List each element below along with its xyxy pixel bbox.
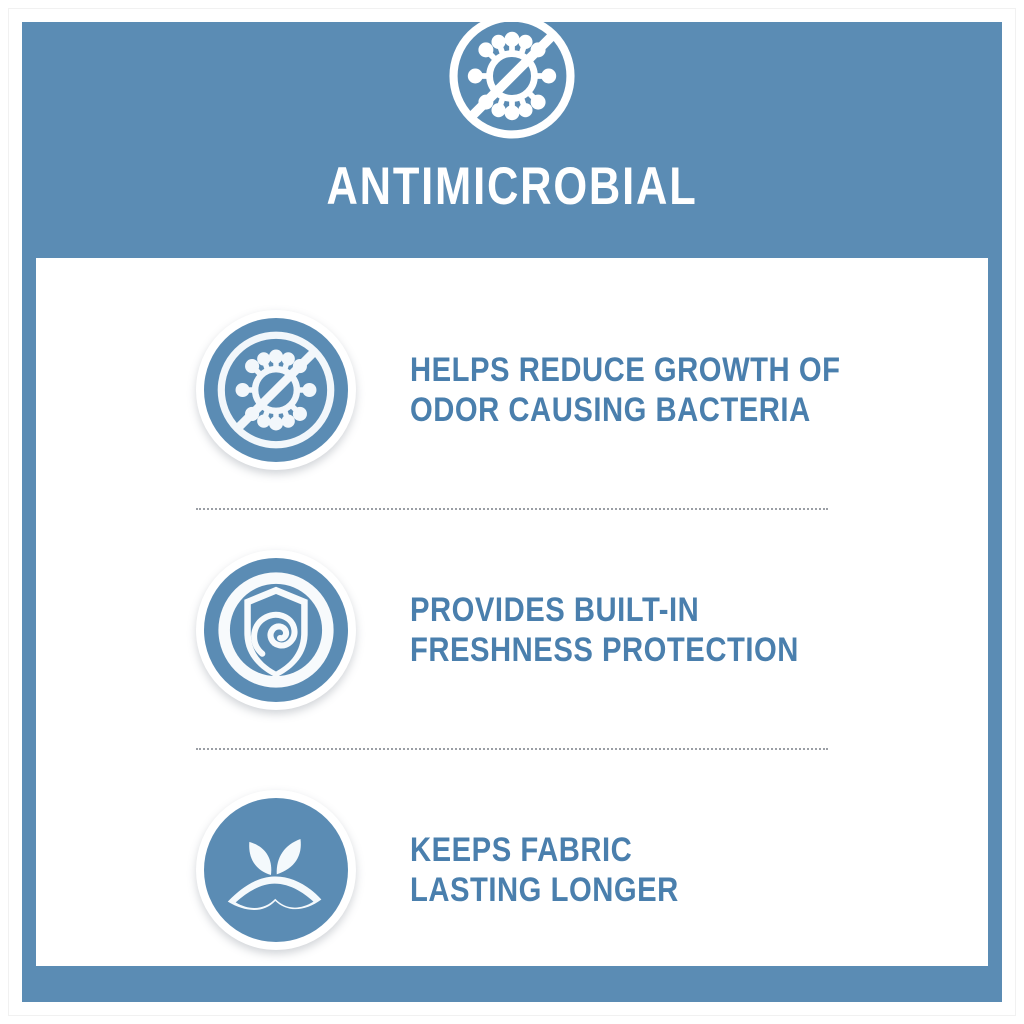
feature-line-1: HELPS REDUCE GROWTH OF [410, 350, 840, 390]
feature-line-2: ODOR CAUSING BACTERIA [410, 390, 840, 430]
shield-swirl-icon [196, 550, 356, 710]
feature-line-2: LASTING LONGER [410, 870, 679, 910]
feature-row: PROVIDES BUILT-IN FRESHNESS PROTECTION [36, 530, 988, 730]
divider [196, 748, 828, 750]
feature-line-1: PROVIDES BUILT-IN [410, 590, 799, 630]
feature-text: HELPS REDUCE GROWTH OF ODOR CAUSING BACT… [410, 350, 840, 430]
feature-line-2: FRESHNESS PROTECTION [410, 630, 799, 670]
feature-list: HELPS REDUCE GROWTH OF ODOR CAUSING BACT… [36, 258, 988, 966]
antimicrobial-infographic: ANTIMICROBIAL [0, 0, 1024, 1024]
feature-row: KEEPS FABRIC LASTING LONGER [36, 770, 988, 970]
page-title: ANTIMICROBIAL [110, 158, 914, 216]
no-germ-icon [196, 310, 356, 470]
feature-text: KEEPS FABRIC LASTING LONGER [410, 830, 679, 910]
feature-line-1: KEEPS FABRIC [410, 830, 679, 870]
no-germ-icon [444, 8, 580, 144]
leaf-sprout-icon [196, 790, 356, 950]
feature-row: HELPS REDUCE GROWTH OF ODOR CAUSING BACT… [36, 290, 988, 490]
feature-text: PROVIDES BUILT-IN FRESHNESS PROTECTION [410, 590, 799, 670]
header: ANTIMICROBIAL [22, 0, 1002, 258]
divider [196, 508, 828, 510]
